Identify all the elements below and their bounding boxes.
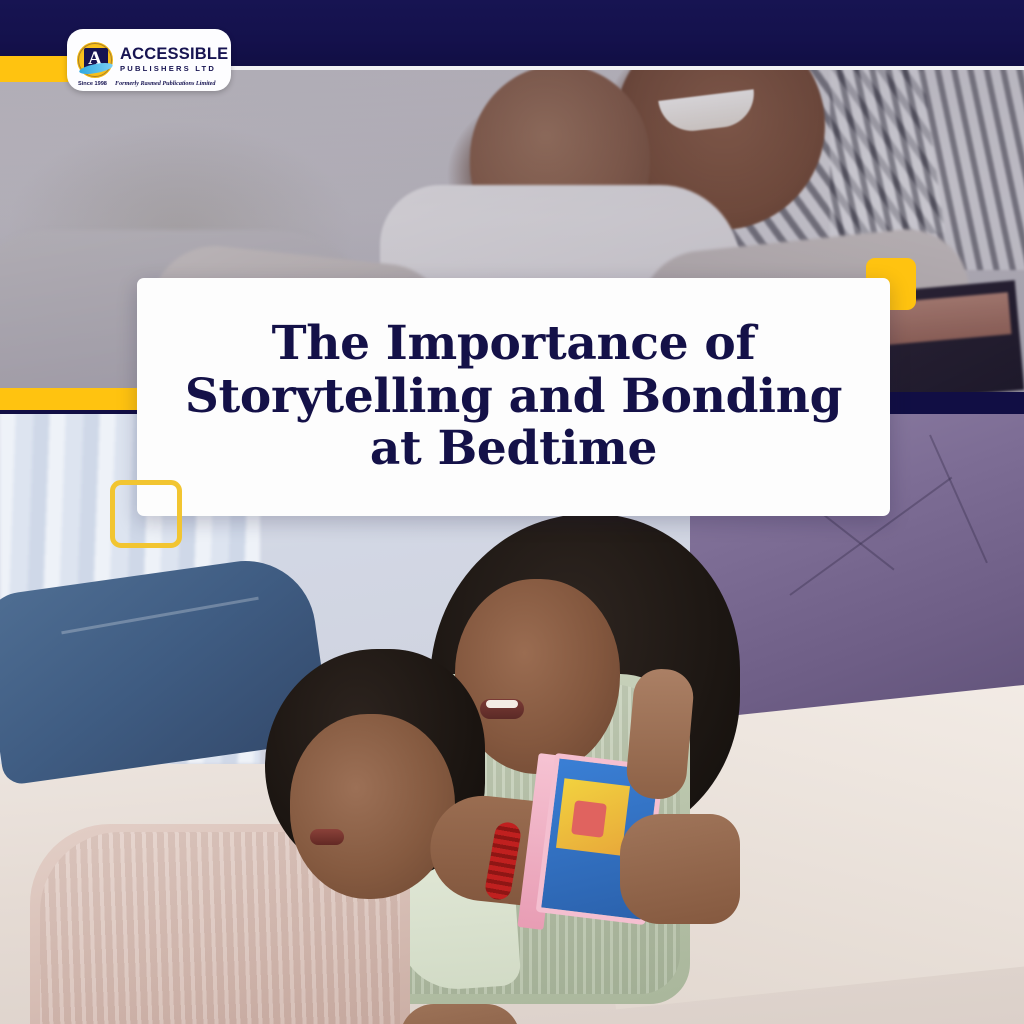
brand-wordmark: ACCESSIBLE PUBLISHERS LTD <box>120 46 228 73</box>
photo-bottom-child-face <box>290 714 455 899</box>
brand-logo[interactable]: A ACCESSIBLE PUBLISHERS LTD Since 1998 F… <box>67 29 231 91</box>
photo-bottom-hand-upper <box>624 667 695 802</box>
brand-formerly: Formerly Rasmed Publications Limited <box>115 80 216 87</box>
accessible-a-monogram-icon: A <box>76 41 114 79</box>
brand-name: ACCESSIBLE <box>120 46 228 63</box>
page-title: The Importance of Storytelling and Bondi… <box>157 318 870 476</box>
photo-bottom-hand-lower <box>620 814 740 924</box>
social-media-poster: A ACCESSIBLE PUBLISHERS LTD Since 1998 F… <box>0 0 1024 1024</box>
brand-subtitle: PUBLISHERS LTD <box>120 64 228 74</box>
photo-bottom-book-illustration-detail <box>571 800 607 838</box>
photo-bottom-mother-teeth <box>486 700 518 708</box>
photo-bottom-child-mouth <box>310 829 344 845</box>
brand-footnote: Since 1998 Formerly Rasmed Publications … <box>78 80 223 87</box>
title-card: The Importance of Storytelling and Bondi… <box>137 278 890 516</box>
brand-since: Since 1998 <box>78 81 107 87</box>
accent-square-outline <box>110 480 182 548</box>
photo-bottom-child-hand <box>400 1004 520 1024</box>
